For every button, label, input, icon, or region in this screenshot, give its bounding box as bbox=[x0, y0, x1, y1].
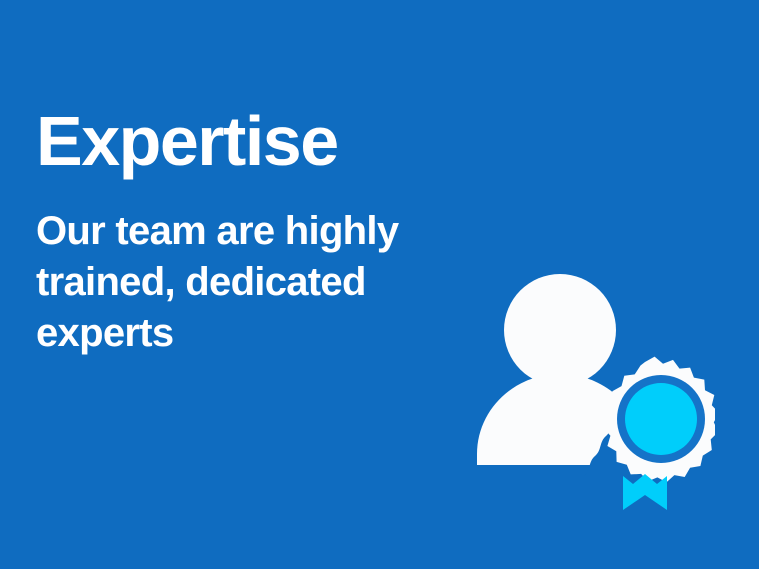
award-center bbox=[625, 383, 697, 455]
page-title: Expertise bbox=[36, 104, 486, 178]
subtitle-line-3: experts bbox=[36, 308, 456, 359]
subtitle-line-2: trained, dedicated bbox=[36, 257, 456, 308]
subtitle: Our team are highly trained, dedicated e… bbox=[36, 178, 456, 359]
person-head-icon bbox=[504, 274, 616, 386]
subtitle-line-1: Our team are highly bbox=[36, 206, 456, 257]
text-block: Expertise Our team are highly trained, d… bbox=[36, 104, 486, 359]
certified-person-icon bbox=[455, 258, 715, 520]
slide-canvas: Expertise Our team are highly trained, d… bbox=[0, 0, 759, 569]
